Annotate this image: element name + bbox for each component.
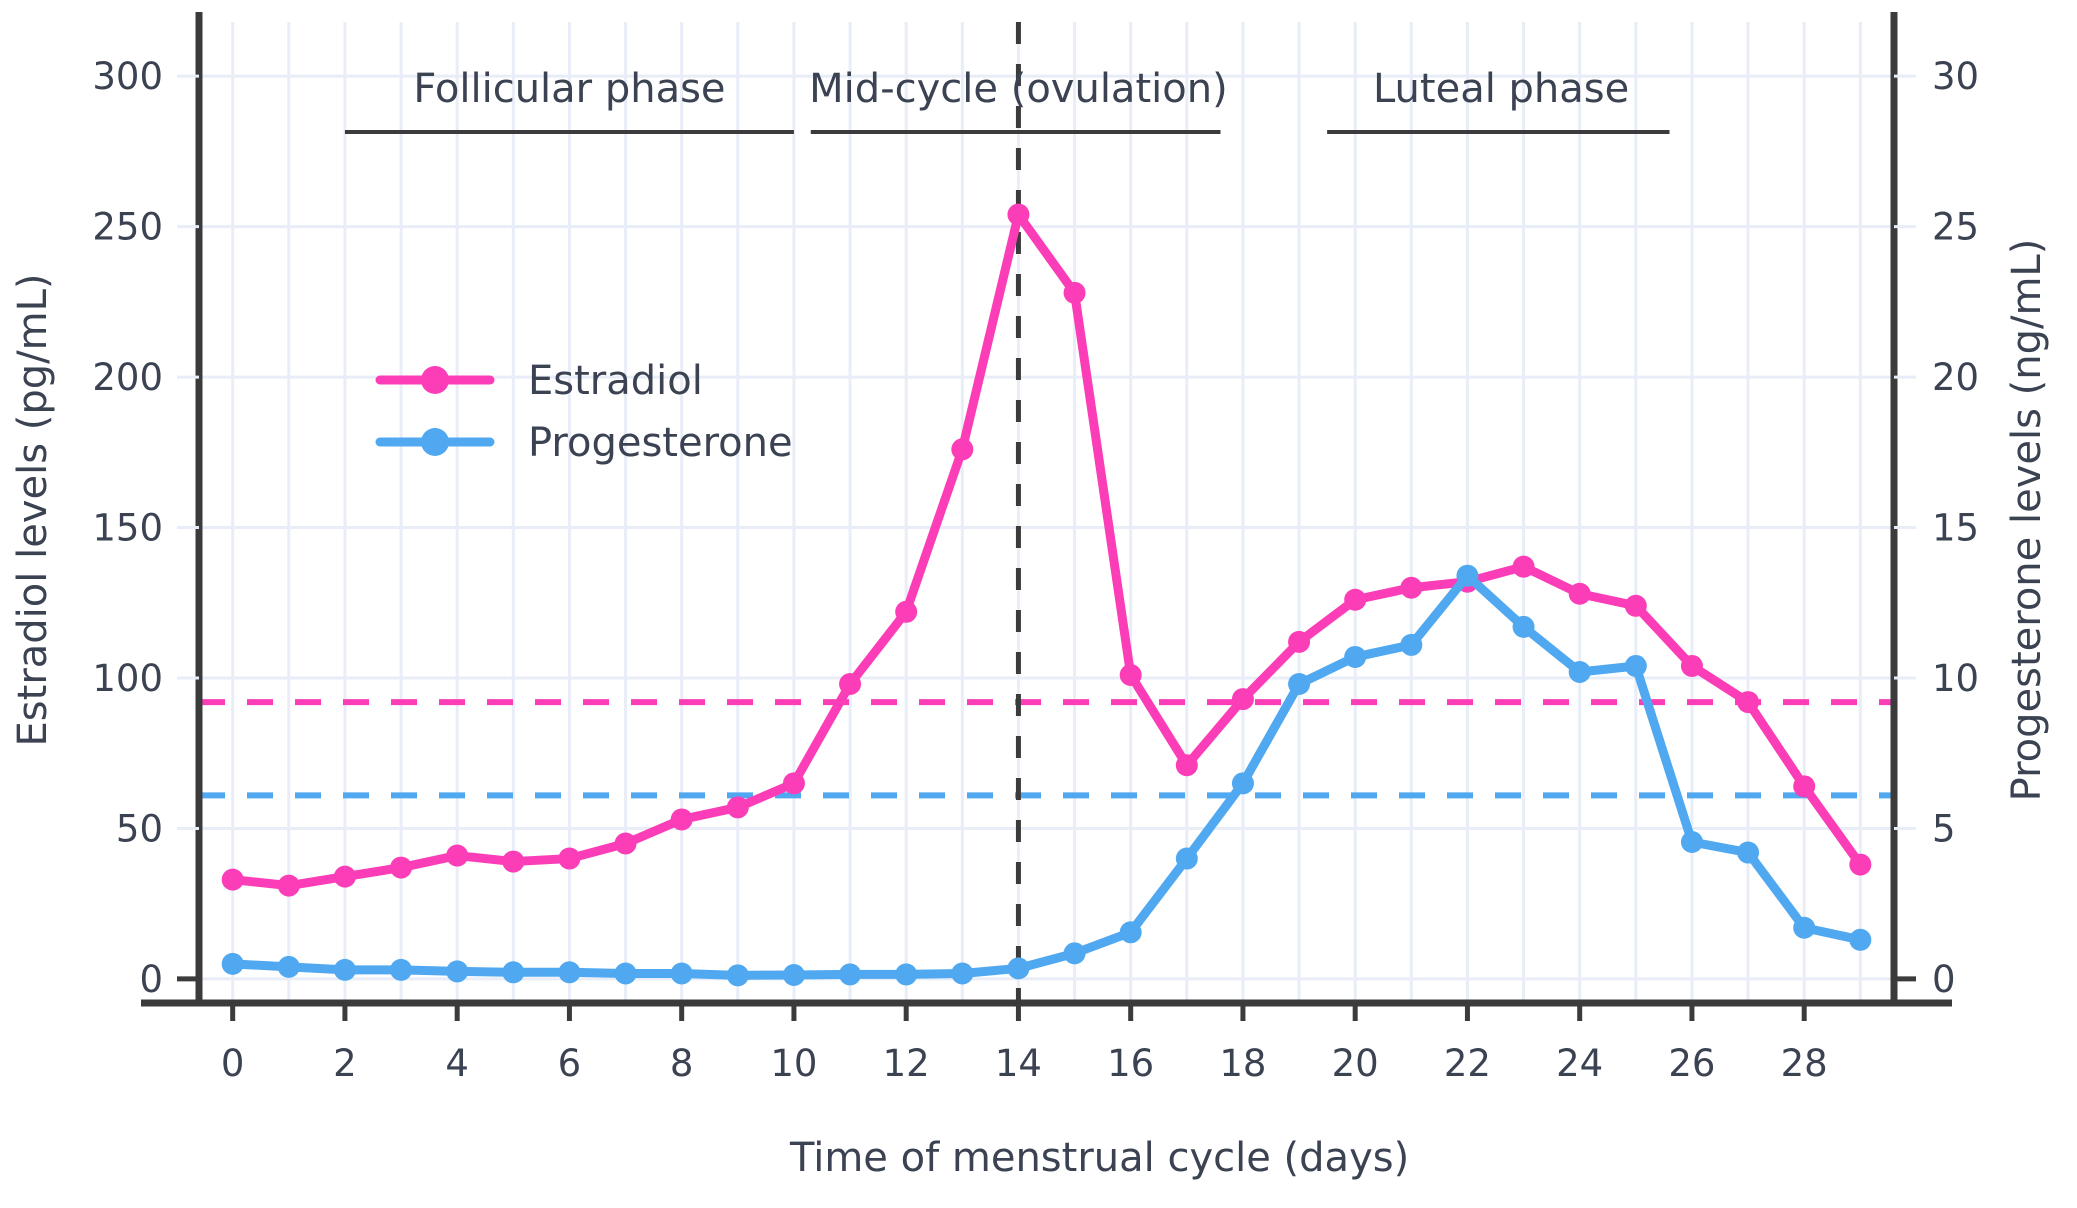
x-tick-label-12: 12 <box>883 1042 930 1085</box>
data-point-progesterone-day-17 <box>1176 848 1198 870</box>
data-point-estradiol-day-27 <box>1737 691 1759 713</box>
data-point-progesterone-day-13 <box>951 963 973 985</box>
data-point-estradiol-day-29 <box>1849 854 1871 876</box>
data-point-progesterone-day-1 <box>278 956 300 978</box>
x-tick-label-0: 0 <box>221 1042 245 1085</box>
chart-figure: 0246810121416182022242628050100150200250… <box>0 0 2077 1208</box>
data-point-estradiol-day-11 <box>839 673 861 695</box>
data-point-progesterone-day-18 <box>1232 772 1254 794</box>
legend-label-estradiol[interactable]: Estradiol <box>528 358 703 404</box>
data-point-progesterone-day-5 <box>502 961 524 983</box>
legend-swatch-marker-progesterone <box>421 428 449 456</box>
y-tick-label-left-100: 100 <box>92 657 163 700</box>
data-point-estradiol-day-4 <box>446 845 468 867</box>
data-point-estradiol-day-2 <box>334 866 356 888</box>
data-point-progesterone-day-3 <box>390 959 412 981</box>
x-tick-label-8: 8 <box>670 1042 694 1085</box>
data-point-estradiol-day-15 <box>1064 282 1086 304</box>
y-tick-label-right-30: 30 <box>1932 55 1979 98</box>
data-point-estradiol-day-5 <box>502 851 524 873</box>
x-tick-label-24: 24 <box>1556 1042 1603 1085</box>
data-point-progesterone-day-22 <box>1456 565 1478 587</box>
x-tick-label-10: 10 <box>770 1042 817 1085</box>
x-tick-label-4: 4 <box>445 1042 469 1085</box>
y-axis-title-left: Estradiol levels (pg/mL) <box>10 274 56 747</box>
data-point-estradiol-day-24 <box>1569 583 1591 605</box>
data-point-progesterone-day-11 <box>839 963 861 985</box>
data-point-estradiol-day-25 <box>1625 595 1647 617</box>
y-axis-title-right: Progesterone levels (ng/mL) <box>2004 239 2050 802</box>
data-point-estradiol-day-1 <box>278 875 300 897</box>
data-point-estradiol-day-6 <box>558 848 580 870</box>
data-point-estradiol-day-16 <box>1120 664 1142 686</box>
y-tick-label-left-150: 150 <box>92 507 163 550</box>
y-tick-label-right-25: 25 <box>1932 206 1979 249</box>
y-tick-label-left-0: 0 <box>139 958 163 1001</box>
data-point-progesterone-day-7 <box>615 963 637 985</box>
x-tick-label-28: 28 <box>1781 1042 1828 1085</box>
x-tick-label-2: 2 <box>333 1042 357 1085</box>
y-tick-label-right-5: 5 <box>1932 807 1956 850</box>
annotation-label-follicular-phase: Follicular phase <box>413 66 725 112</box>
data-point-progesterone-day-26 <box>1681 831 1703 853</box>
data-point-estradiol-day-18 <box>1232 688 1254 710</box>
x-tick-label-20: 20 <box>1332 1042 1379 1085</box>
data-point-progesterone-day-25 <box>1625 655 1647 677</box>
data-point-estradiol-day-8 <box>671 808 693 830</box>
y-tick-label-left-300: 300 <box>92 55 163 98</box>
data-point-progesterone-day-29 <box>1849 929 1871 951</box>
data-point-progesterone-day-24 <box>1569 661 1591 683</box>
data-point-estradiol-day-7 <box>615 833 637 855</box>
x-tick-label-18: 18 <box>1219 1042 1266 1085</box>
legend-swatch-marker-estradiol <box>421 366 449 394</box>
data-point-estradiol-day-3 <box>390 857 412 879</box>
x-tick-label-26: 26 <box>1668 1042 1715 1085</box>
data-point-progesterone-day-23 <box>1513 616 1535 638</box>
data-point-estradiol-day-9 <box>727 796 749 818</box>
x-tick-label-14: 14 <box>995 1042 1042 1085</box>
data-point-progesterone-day-9 <box>727 964 749 986</box>
data-point-progesterone-day-16 <box>1120 921 1142 943</box>
y-tick-label-left-50: 50 <box>116 807 163 850</box>
data-point-progesterone-day-19 <box>1288 673 1310 695</box>
data-point-estradiol-day-17 <box>1176 754 1198 776</box>
data-point-progesterone-day-0 <box>222 953 244 975</box>
x-tick-label-22: 22 <box>1444 1042 1491 1085</box>
data-point-estradiol-day-10 <box>783 772 805 794</box>
data-point-progesterone-day-14 <box>1007 957 1029 979</box>
data-point-progesterone-day-10 <box>783 964 805 986</box>
data-point-estradiol-day-21 <box>1400 577 1422 599</box>
menstrual-cycle-hormone-chart: 0246810121416182022242628050100150200250… <box>0 0 2077 1208</box>
x-tick-label-16: 16 <box>1107 1042 1154 1085</box>
data-point-progesterone-day-6 <box>558 961 580 983</box>
data-point-estradiol-day-12 <box>895 601 917 623</box>
x-axis-title: Time of menstrual cycle (days) <box>789 1135 1409 1181</box>
y-tick-label-right-0: 0 <box>1932 958 1956 1001</box>
data-point-progesterone-day-28 <box>1793 917 1815 939</box>
data-point-estradiol-day-19 <box>1288 631 1310 653</box>
y-tick-label-left-250: 250 <box>92 206 163 249</box>
data-point-progesterone-day-21 <box>1400 634 1422 656</box>
data-point-estradiol-day-28 <box>1793 775 1815 797</box>
legend-label-progesterone[interactable]: Progesterone <box>528 420 793 466</box>
data-point-progesterone-day-2 <box>334 959 356 981</box>
y-tick-label-right-20: 20 <box>1932 356 1979 399</box>
annotation-label-mid-cycle-phase: Mid-cycle (ovulation) <box>809 66 1228 112</box>
data-point-estradiol-day-14 <box>1007 204 1029 226</box>
data-point-progesterone-day-20 <box>1344 646 1366 668</box>
data-point-progesterone-day-12 <box>895 963 917 985</box>
data-point-estradiol-day-20 <box>1344 589 1366 611</box>
data-point-estradiol-day-0 <box>222 869 244 891</box>
y-tick-label-right-10: 10 <box>1932 657 1979 700</box>
data-point-estradiol-day-26 <box>1681 655 1703 677</box>
data-point-progesterone-day-27 <box>1737 842 1759 864</box>
data-point-progesterone-day-8 <box>671 963 693 985</box>
data-point-progesterone-day-4 <box>446 960 468 982</box>
data-point-estradiol-day-23 <box>1513 556 1535 578</box>
data-point-progesterone-day-15 <box>1064 942 1086 964</box>
x-tick-label-6: 6 <box>558 1042 582 1085</box>
data-point-estradiol-day-13 <box>951 438 973 460</box>
y-tick-label-right-15: 15 <box>1932 507 1979 550</box>
y-tick-label-left-200: 200 <box>92 356 163 399</box>
chart-background <box>0 0 2077 1208</box>
annotation-label-luteal-phase: Luteal phase <box>1373 66 1629 112</box>
